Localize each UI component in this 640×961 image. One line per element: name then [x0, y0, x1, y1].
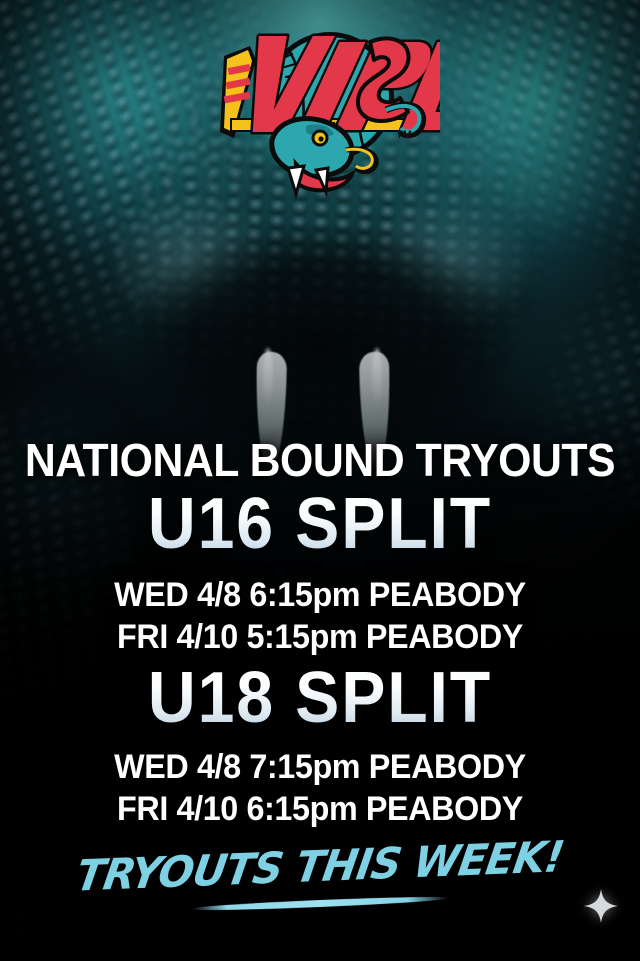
session-line-u16-wed: WED 4/8 6:15pm PEABODY	[16, 578, 624, 612]
session-line-u18-wed: WED 4/8 7:15pm PEABODY	[16, 750, 624, 784]
footer-callout: TRYOUTS THIS WEEK!	[0, 846, 640, 916]
flyer-text-content: NATIONAL BOUND TRYOUTS U16 SPLIT WED 4/8…	[0, 0, 640, 961]
page-title: NATIONAL BOUND TRYOUTS	[22, 437, 617, 483]
footer-script-text: TRYOUTS THIS WEEK!	[73, 836, 566, 898]
age-group-title-u16: U16 SPLIT	[26, 488, 615, 560]
session-line-u16-fri: FRI 4/10 5:15pm PEABODY	[16, 620, 624, 654]
session-line-u18-fri: FRI 4/10 6:15pm PEABODY	[16, 792, 624, 826]
tryout-flyer-poster: BOSTON TM NATIONAL BOUND TRYOUTS	[0, 0, 640, 961]
sparkle-icon	[584, 889, 618, 923]
age-group-title-u18: U18 SPLIT	[26, 662, 615, 734]
footer-underline-swoosh	[191, 895, 449, 913]
